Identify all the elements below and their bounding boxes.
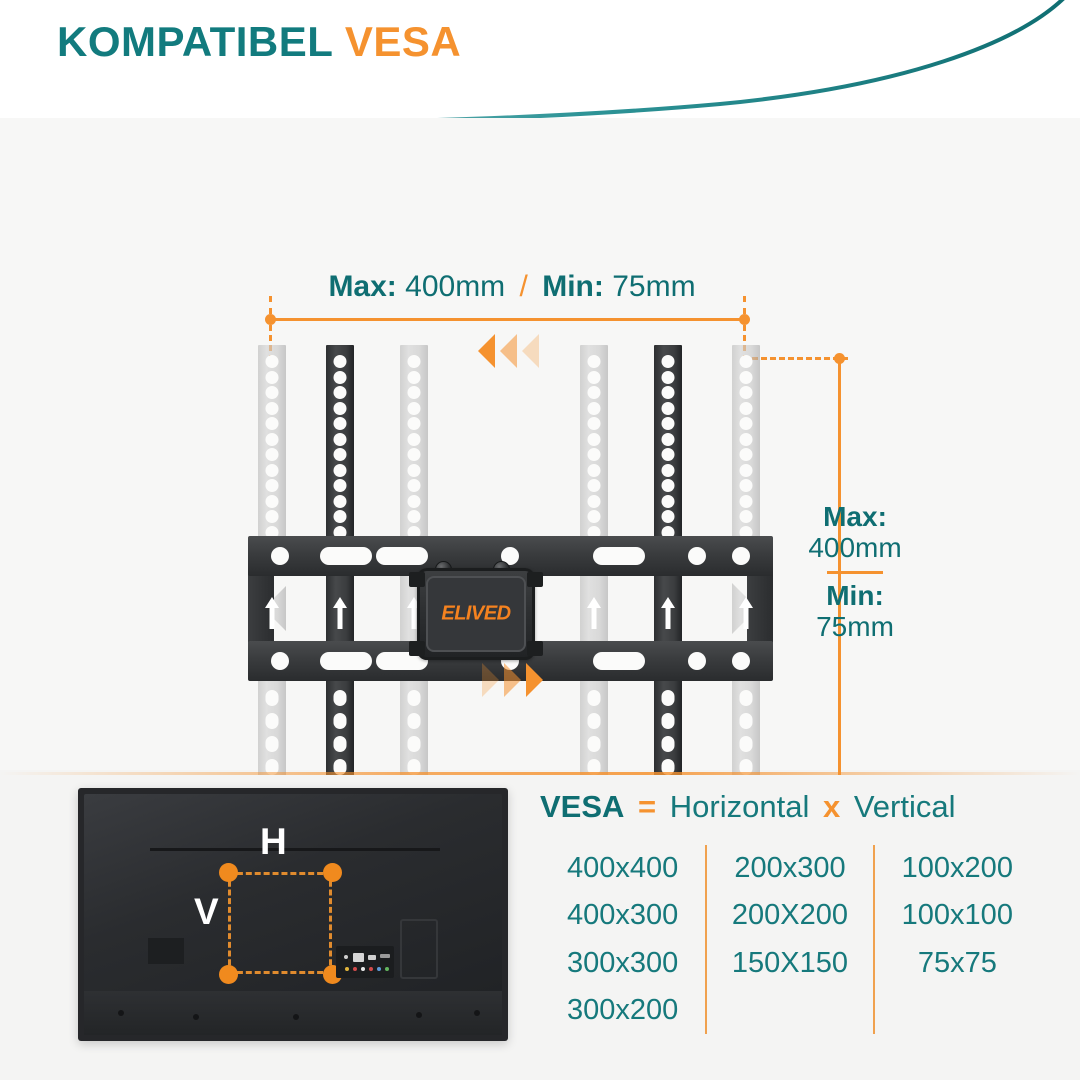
tv-screw xyxy=(474,1010,480,1016)
h-max-value: 400mm xyxy=(405,270,505,303)
rail-hole xyxy=(588,464,601,477)
rail-hole xyxy=(662,355,675,368)
rail-hole xyxy=(662,510,675,523)
rail-hole xyxy=(266,402,279,415)
rail-hole xyxy=(662,464,675,477)
h-separator: / xyxy=(514,270,534,303)
brand-logo: ELIVED xyxy=(417,603,535,626)
v-min-value: 75mm xyxy=(770,611,940,642)
tv-screw xyxy=(193,1014,199,1020)
rail-hole xyxy=(408,433,421,446)
rail-hole xyxy=(740,495,753,508)
v-max-label: Max: xyxy=(770,501,940,532)
rail-hole xyxy=(266,417,279,430)
h-dim-dot-right xyxy=(739,314,750,325)
rail-hole xyxy=(740,448,753,461)
rail-slot xyxy=(662,713,675,729)
h-min-label: Min: xyxy=(542,270,604,303)
rail-hole xyxy=(266,433,279,446)
rail-slot xyxy=(408,713,421,729)
vesa-pattern-outline xyxy=(228,872,332,974)
vesa-size-table: VESA = Horizontal x Vertical 400x400400x… xyxy=(540,789,1040,1034)
rail-hole xyxy=(588,448,601,461)
rail-hole xyxy=(334,464,347,477)
rail-hole xyxy=(740,464,753,477)
center-mounting-plate: ELIVED xyxy=(417,568,535,660)
chevron-left-icon xyxy=(478,334,495,368)
bracket-hole xyxy=(688,652,706,670)
v-min-label: Min: xyxy=(770,580,940,611)
rail-slot xyxy=(588,713,601,729)
rail-hole xyxy=(266,386,279,399)
tv-screw xyxy=(118,1010,124,1016)
rail-hole xyxy=(334,510,347,523)
rail-hole xyxy=(588,371,601,384)
vesa-size-cell: 400x300 xyxy=(540,892,705,939)
up-arrow-icon xyxy=(586,596,602,630)
rail-hole xyxy=(408,355,421,368)
rail-hole xyxy=(662,495,675,508)
rail-hole xyxy=(266,479,279,492)
tv-vertical-marker: V xyxy=(194,891,219,933)
vesa-size-cell: 400x400 xyxy=(540,845,705,892)
rail-hole xyxy=(588,479,601,492)
rail-hole xyxy=(266,371,279,384)
header-band: KOMPATIBEL VESA xyxy=(0,0,1080,118)
rail-slot xyxy=(740,690,753,706)
vesa-size-cell: 200X200 xyxy=(707,892,872,939)
rail-hole xyxy=(334,355,347,368)
plate-clamp-tl xyxy=(409,572,425,587)
rail-hole xyxy=(740,479,753,492)
rail-slot xyxy=(662,690,675,706)
vesa-heading-times: x xyxy=(818,789,845,824)
tv-screw xyxy=(416,1012,422,1018)
rail-hole xyxy=(334,495,347,508)
rail-hole xyxy=(266,495,279,508)
plate-clamp-bl xyxy=(409,641,425,656)
rail-slot xyxy=(408,690,421,706)
vesa-column-2: 200x300200X200150X150 xyxy=(705,845,872,1034)
rail-hole xyxy=(662,417,675,430)
rail-hole xyxy=(588,417,601,430)
chevron-left-icon xyxy=(500,334,517,368)
rail-hole xyxy=(408,479,421,492)
h-dim-dot-left xyxy=(265,314,276,325)
rail-hole xyxy=(334,371,347,384)
chevron-right-icon xyxy=(526,663,543,697)
bracket-slot xyxy=(593,652,645,670)
rail-slot xyxy=(334,713,347,729)
rail-hole xyxy=(408,417,421,430)
vesa-size-cell: 100x100 xyxy=(875,892,1040,939)
up-arrow-icon xyxy=(660,596,676,630)
bracket-hole xyxy=(271,547,289,565)
rail-hole xyxy=(266,510,279,523)
tv-port-panel xyxy=(336,946,394,978)
rail-hole xyxy=(266,448,279,461)
vesa-size-cell: 300x200 xyxy=(540,987,705,1034)
rail-hole xyxy=(740,510,753,523)
rail-hole xyxy=(408,448,421,461)
rail-hole xyxy=(740,433,753,446)
vesa-heading-vertical: Vertical xyxy=(854,789,956,824)
rail-slot xyxy=(740,713,753,729)
rail-hole xyxy=(588,510,601,523)
horizontal-dimension-label: Max: 400mm / Min: 75mm xyxy=(262,270,762,304)
vesa-size-cell: 300x300 xyxy=(540,940,705,987)
rail-hole xyxy=(662,371,675,384)
up-arrow-icon xyxy=(332,596,348,630)
rail-hole xyxy=(588,386,601,399)
rail-hole xyxy=(334,402,347,415)
chevron-right-icon xyxy=(482,663,499,697)
rail-hole xyxy=(662,386,675,399)
rail-hole xyxy=(588,402,601,415)
vesa-hole-tl xyxy=(219,863,238,882)
chevron-left-triple-icon xyxy=(478,334,539,368)
up-arrow-icon xyxy=(264,596,280,630)
vesa-column-3: 100x200100x10075x75 xyxy=(873,845,1040,1034)
rail-slot xyxy=(266,690,279,706)
rail-hole xyxy=(266,464,279,477)
vesa-hole-tr xyxy=(323,863,342,882)
vesa-heading-horizontal: Horizontal xyxy=(670,789,810,824)
v-max-value: 400mm xyxy=(770,532,940,563)
tv-lower-band xyxy=(84,991,502,1035)
bracket-hole xyxy=(732,547,750,565)
chevron-left-icon xyxy=(522,334,539,368)
rail-hole xyxy=(266,355,279,368)
rail-hole xyxy=(408,510,421,523)
page-title: KOMPATIBEL VESA xyxy=(57,18,461,66)
rail-hole xyxy=(408,386,421,399)
vesa-hole-bl xyxy=(219,965,238,984)
chevron-right-icon xyxy=(504,663,521,697)
h-dim-ext-top-left xyxy=(269,296,272,314)
rail-hole xyxy=(334,448,347,461)
rail-slot xyxy=(740,736,753,752)
rail-hole xyxy=(588,433,601,446)
bracket-slot xyxy=(320,547,372,565)
tv-seam-line xyxy=(150,848,440,851)
tv-side-port-bay xyxy=(400,919,438,979)
vesa-size-cell: 150X150 xyxy=(707,940,872,987)
bracket-slot xyxy=(593,547,645,565)
bracket-diagram: Max: 400mm / Min: 75mm Max: 400mm Min: 7… xyxy=(0,118,1080,770)
horizontal-dimension-line xyxy=(270,318,744,321)
vesa-formula-heading: VESA = Horizontal x Vertical xyxy=(540,789,1040,825)
rail-hole xyxy=(588,495,601,508)
rail-slot xyxy=(588,736,601,752)
h-dim-ext-top-right xyxy=(743,296,746,314)
up-arrow-icon xyxy=(738,596,754,630)
rail-hole xyxy=(334,386,347,399)
tv-horizontal-marker: H xyxy=(260,821,287,863)
rail-hole xyxy=(408,495,421,508)
vesa-columns: 400x400400x300300x300300x200200x300200X2… xyxy=(540,845,1040,1034)
rail-slot xyxy=(408,736,421,752)
rail-hole xyxy=(740,386,753,399)
rail-hole xyxy=(334,417,347,430)
rail-slot xyxy=(334,736,347,752)
rail-slot xyxy=(334,690,347,706)
vesa-size-cell: 200x300 xyxy=(707,845,872,892)
tv-vent xyxy=(148,938,184,964)
rail-hole xyxy=(662,402,675,415)
rail-hole xyxy=(334,433,347,446)
tv-rear-illustration: H V xyxy=(78,788,508,1041)
bracket-slot xyxy=(320,652,372,670)
page-title-accent: VESA xyxy=(345,18,461,65)
plate-clamp-br xyxy=(527,641,543,656)
rail-hole xyxy=(662,479,675,492)
rail-slot xyxy=(588,690,601,706)
rail-hole xyxy=(408,371,421,384)
rail-hole xyxy=(740,371,753,384)
rail-slot xyxy=(266,736,279,752)
rail-hole xyxy=(408,402,421,415)
vesa-explainer-section: H V VESA = Horizontal x Vertical 4 xyxy=(0,775,1080,1080)
vesa-size-cell: 100x200 xyxy=(875,845,1040,892)
rail-hole xyxy=(740,417,753,430)
bracket-notch-tl xyxy=(274,576,296,598)
vesa-column-1: 400x400400x300300x300300x200 xyxy=(540,845,705,1034)
vesa-heading-label: VESA xyxy=(540,789,624,824)
vesa-heading-equals: = xyxy=(633,789,661,824)
vesa-size-cell: 75x75 xyxy=(875,940,1040,987)
page-title-primary: KOMPATIBEL xyxy=(57,18,333,65)
rail-hole xyxy=(662,448,675,461)
plate-clamp-tr xyxy=(527,572,543,587)
vertical-dimension-label: Max: 400mm Min: 75mm xyxy=(770,501,940,642)
v-dim-rule xyxy=(827,571,883,574)
bracket-hole xyxy=(688,547,706,565)
v-dim-dot-top xyxy=(834,353,845,364)
rail-slot xyxy=(266,713,279,729)
h-min-value: 75mm xyxy=(612,270,695,303)
bracket-slot xyxy=(376,547,428,565)
chevron-right-triple-icon xyxy=(482,663,543,697)
tv-screw xyxy=(293,1014,299,1020)
bracket-notch-tr xyxy=(725,576,747,598)
rail-hole xyxy=(588,355,601,368)
rail-hole xyxy=(334,479,347,492)
bracket-hole xyxy=(271,652,289,670)
bracket-hole xyxy=(732,652,750,670)
rail-slot xyxy=(662,736,675,752)
rail-hole xyxy=(662,433,675,446)
rail-hole xyxy=(740,355,753,368)
rail-hole xyxy=(408,464,421,477)
rail-hole xyxy=(740,402,753,415)
h-max-label: Max: xyxy=(328,270,396,303)
